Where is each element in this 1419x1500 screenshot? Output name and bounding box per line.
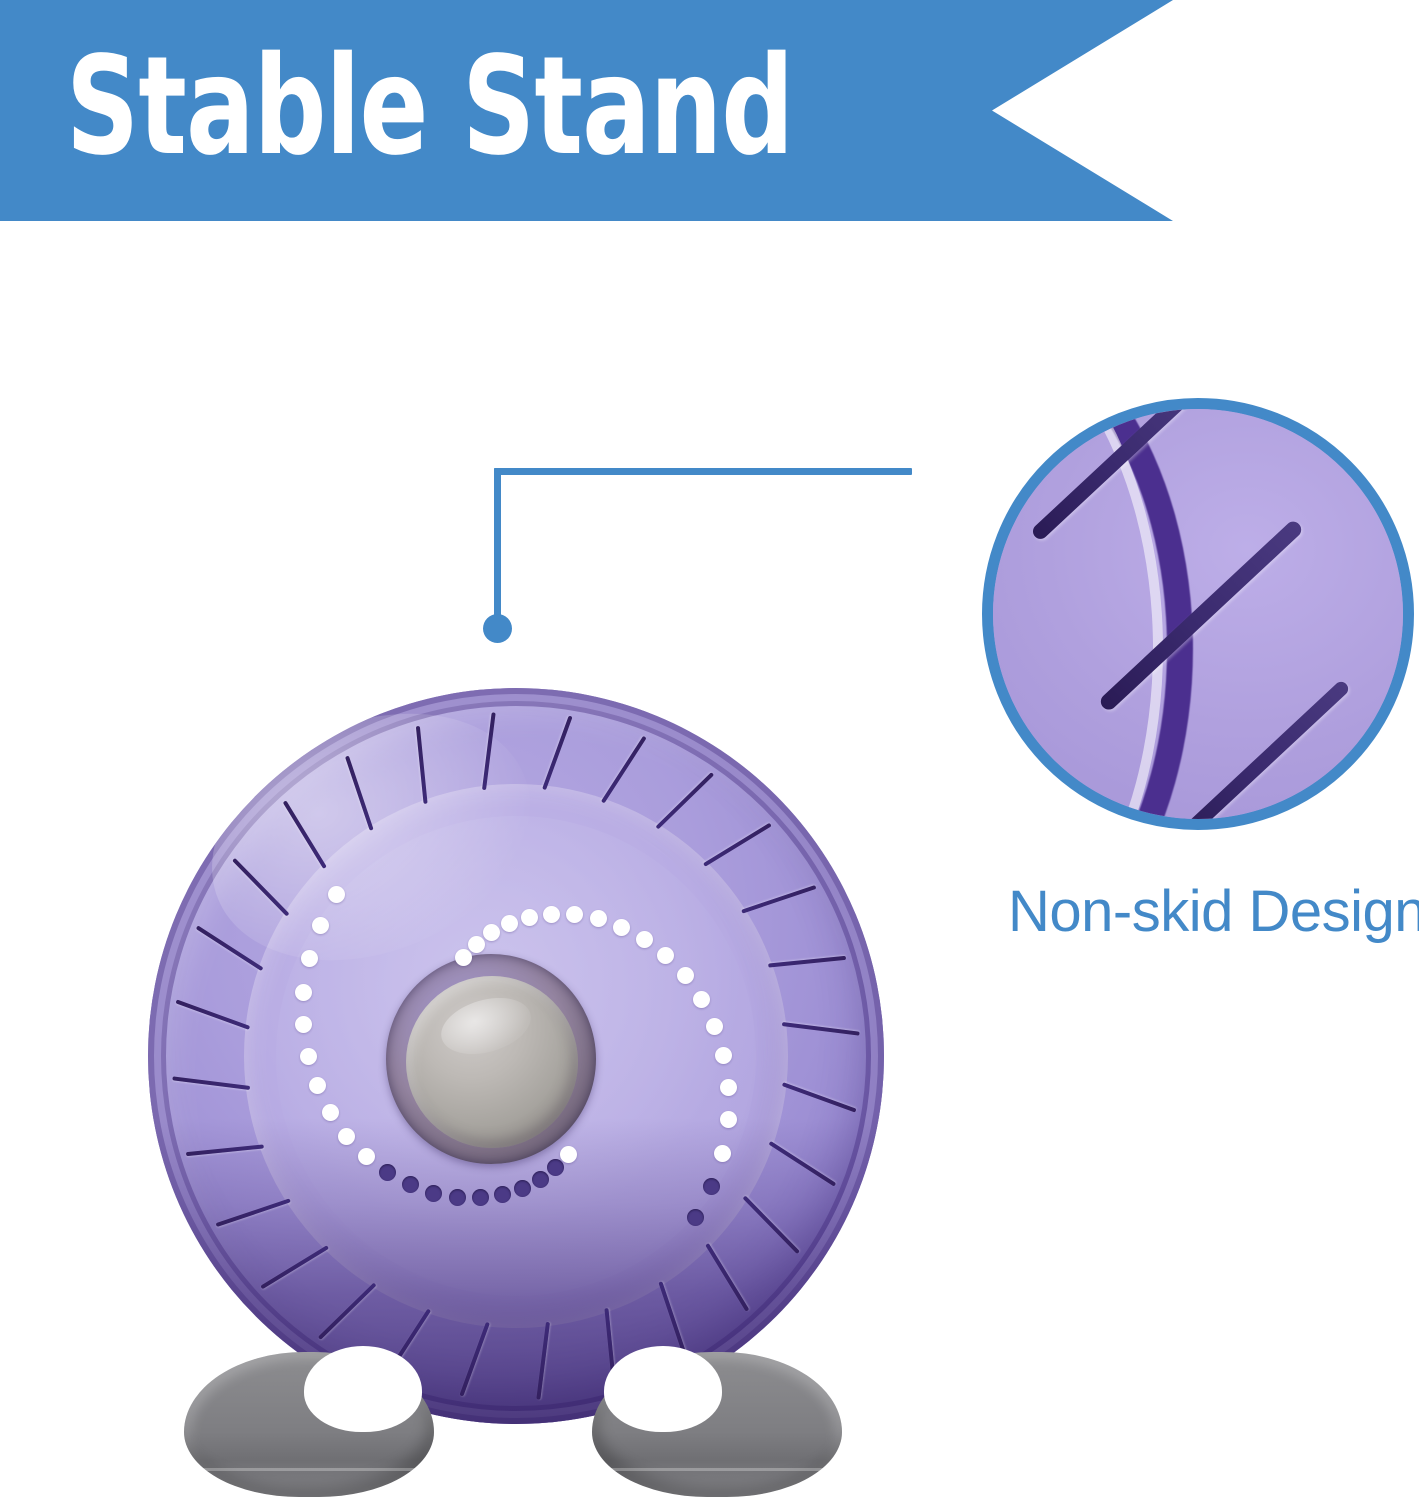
wheel-drain-hole (328, 886, 345, 903)
wheel-rim-groove (703, 823, 772, 867)
wheel-drain-hole (468, 936, 485, 953)
wheel-rim-groove (186, 1144, 264, 1156)
wheel-drain-hole (521, 909, 538, 926)
wheel-rim-groove (232, 858, 289, 917)
leader-line-vertical (494, 468, 501, 628)
wheel-drain-hole (379, 1164, 396, 1181)
magnified-groove (1173, 679, 1351, 830)
page-title: Stable Stand (66, 22, 813, 192)
wheel-rim-groove (196, 925, 264, 971)
wheel-drain-hole (449, 1189, 466, 1206)
wheel-drain-hole (300, 1048, 317, 1065)
magnified-surface (993, 409, 1403, 819)
stand-foot-seam (608, 1468, 826, 1471)
wheel-drain-hole (322, 1104, 339, 1121)
wheel-rim-groove (782, 1022, 860, 1036)
wheel-drain-hole (494, 1186, 511, 1203)
wheel-rim-groove (782, 1082, 857, 1112)
wheel-drain-hole (455, 949, 472, 966)
wheel-drain-hole (514, 1180, 531, 1197)
wheel-drain-hole (312, 917, 329, 934)
wheel-drain-hole (295, 984, 312, 1001)
wheel-drain-hole (590, 910, 607, 927)
wheel-drain-hole (693, 991, 710, 1008)
wheel-rim-groove (536, 1322, 550, 1400)
wheel-drain-hole (706, 1018, 723, 1035)
wheel-rim-groove (743, 1195, 800, 1254)
wheel-drain-hole (309, 1077, 326, 1094)
wheel-rim-groove (769, 1141, 837, 1187)
wheel-rim-groove (741, 885, 816, 914)
wheel-rim-groove (655, 772, 714, 829)
wheel-rim-groove (482, 712, 496, 790)
wheel-drain-hole (402, 1176, 419, 1193)
wheel-drain-hole (425, 1185, 442, 1202)
wheel-rim-groove (172, 1076, 250, 1090)
wheel-rim-groove (705, 1243, 749, 1312)
stand-foot-notch (304, 1346, 422, 1432)
dot-icon (483, 614, 512, 643)
wheel-drain-hole (720, 1079, 737, 1096)
stand-foot-right (592, 1352, 842, 1497)
wheel-drain-hole (338, 1128, 355, 1145)
stand-foot-seam (200, 1468, 418, 1471)
wheel-drain-hole (613, 919, 630, 936)
product-feature-image: Stable Stand Non-skid Design (0, 0, 1419, 1500)
leader-line-horizontal (494, 468, 912, 475)
stand-foot-left (184, 1352, 434, 1497)
wheel-drain-hole (543, 906, 560, 923)
exercise-wheel (148, 688, 884, 1424)
wheel-drain-hole (720, 1111, 737, 1128)
wheel-rim-groove (542, 715, 572, 790)
stand-foot-notch (604, 1346, 722, 1432)
wheel-rim-groove (260, 1245, 329, 1289)
wheel-drain-hole (714, 1145, 731, 1162)
wheel-rim-groove (416, 726, 428, 804)
wheel-rim-groove (175, 999, 250, 1029)
wheel-rim-groove (216, 1198, 291, 1227)
wheel-drain-hole (703, 1178, 720, 1195)
headline-banner: Stable Stand (0, 0, 1180, 221)
product-photo (140, 660, 900, 1500)
wheel-drain-hole (677, 967, 694, 984)
wheel-rim-groove (283, 800, 327, 869)
wheel-rim-groove (601, 736, 647, 804)
wheel-drain-hole (358, 1148, 375, 1165)
wheel-rim-groove (459, 1322, 489, 1397)
callout-caption: Non-skid Design (1008, 878, 1419, 945)
wheel-rim-groove (768, 956, 846, 968)
wheel-rim-groove (318, 1283, 377, 1340)
wheel-drain-hole (532, 1171, 549, 1188)
magnifier-circle-icon (982, 398, 1414, 830)
wheel-rim-groove (345, 756, 374, 831)
wheel-drain-hole (636, 931, 653, 948)
